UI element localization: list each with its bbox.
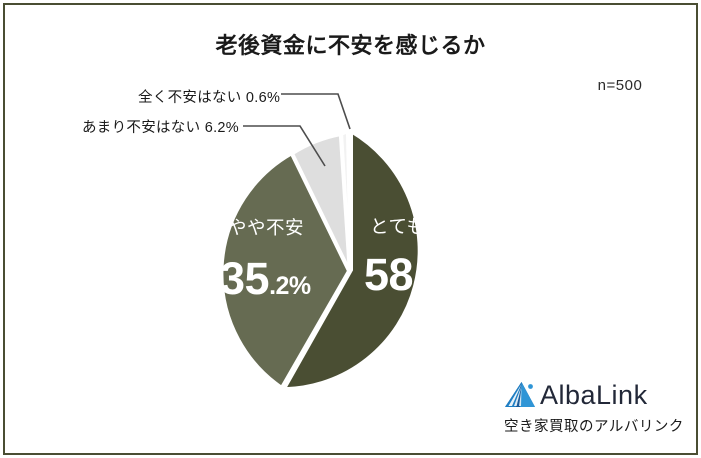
slice-value-very-anxious: 58.0% (364, 252, 455, 297)
brand-logo[interactable]: AlbaLink 空き家買取のアルバリンク (502, 380, 682, 438)
slice-value-integer-very-anxious: 58 (364, 249, 413, 300)
chart-canvas: 老後資金に不安を感じるか n=500 全く不安はない 0.6% あまり不安はない… (0, 0, 701, 458)
logo-wordmark: AlbaLink (540, 382, 648, 409)
slice-value-decimal-somewhat-anxious: .2% (269, 272, 311, 300)
slice-value-integer-somewhat-anxious: 35 (220, 253, 269, 304)
logo-row: AlbaLink (502, 380, 648, 410)
leader-line-no-anxiety-at-all (281, 94, 350, 129)
slice-label-very-anxious: とても不安 (370, 213, 464, 239)
slice-value-somewhat-anxious: 35.2% (220, 256, 311, 301)
slice-value-decimal-very-anxious: .0% (413, 268, 455, 296)
leader-line-not-much-anxiety (243, 126, 325, 166)
mountain-logo-icon (502, 380, 536, 410)
slice-label-somewhat-anxious: やや不安 (228, 214, 304, 240)
logo-tagline: 空き家買取のアルバリンク (504, 415, 684, 436)
